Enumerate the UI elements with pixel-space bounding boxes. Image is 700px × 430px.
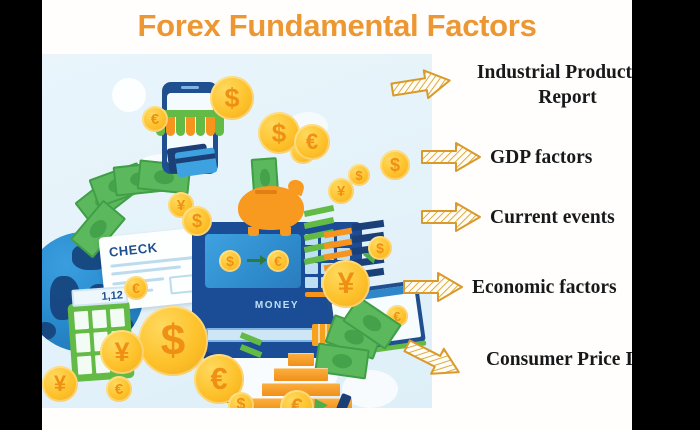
- factor-label: GDP factors: [490, 145, 592, 170]
- factor-current-events[interactable]: Current events: [420, 200, 615, 234]
- page-title: Forex Fundamental Factors: [42, 2, 632, 50]
- screenshot-root: Forex Fundamental Factors: [0, 0, 700, 430]
- factor-industrial-production-report[interactable]: Industrial Production Report: [390, 60, 632, 110]
- coin-euro: €: [294, 124, 330, 160]
- hatched-arrow-right-icon: [420, 200, 482, 234]
- coin-yen: ¥: [100, 330, 144, 374]
- atm-label: MONEY: [255, 300, 299, 311]
- piggy-bank-icon: [238, 186, 304, 230]
- coin-euro: €: [142, 106, 168, 132]
- hatched-arrow-right-icon: [402, 270, 464, 304]
- atm-screen: $ €: [205, 234, 301, 288]
- coin-dollar: $: [182, 206, 212, 236]
- calculator-display: 1,12: [71, 286, 128, 307]
- factor-gdp-factors[interactable]: GDP factors: [420, 140, 592, 174]
- factor-label: Current events: [490, 205, 615, 230]
- factor-economic-factors[interactable]: Economic factors: [402, 270, 617, 304]
- coin-yen: ¥: [42, 366, 78, 402]
- coin-euro: €: [124, 276, 148, 300]
- factor-consumer-price-index[interactable]: Consumer Price Index: [402, 342, 632, 376]
- hatched-arrow-right-icon: [420, 140, 482, 174]
- coin-euro: €: [106, 376, 132, 402]
- letterbox-bar-left: [0, 0, 42, 430]
- coin-yen: ¥: [322, 260, 370, 308]
- decor-blob: [112, 78, 146, 112]
- hatched-arrow-down-right-icon: [402, 342, 464, 376]
- factor-label: Industrial Production Report: [460, 60, 632, 110]
- factor-label: Consumer Price Index: [472, 347, 632, 372]
- hatched-arrow-right-icon: [390, 68, 452, 102]
- coin-dollar: $: [348, 164, 370, 186]
- factors-list: Industrial Production Report GDP factors…: [372, 54, 632, 430]
- coin-dollar: $: [210, 76, 254, 120]
- factor-label: Economic factors: [472, 275, 617, 300]
- coin-dollar: $: [258, 112, 300, 154]
- slide-canvas: Forex Fundamental Factors: [42, 0, 632, 430]
- letterbox-bar-right: [632, 0, 700, 430]
